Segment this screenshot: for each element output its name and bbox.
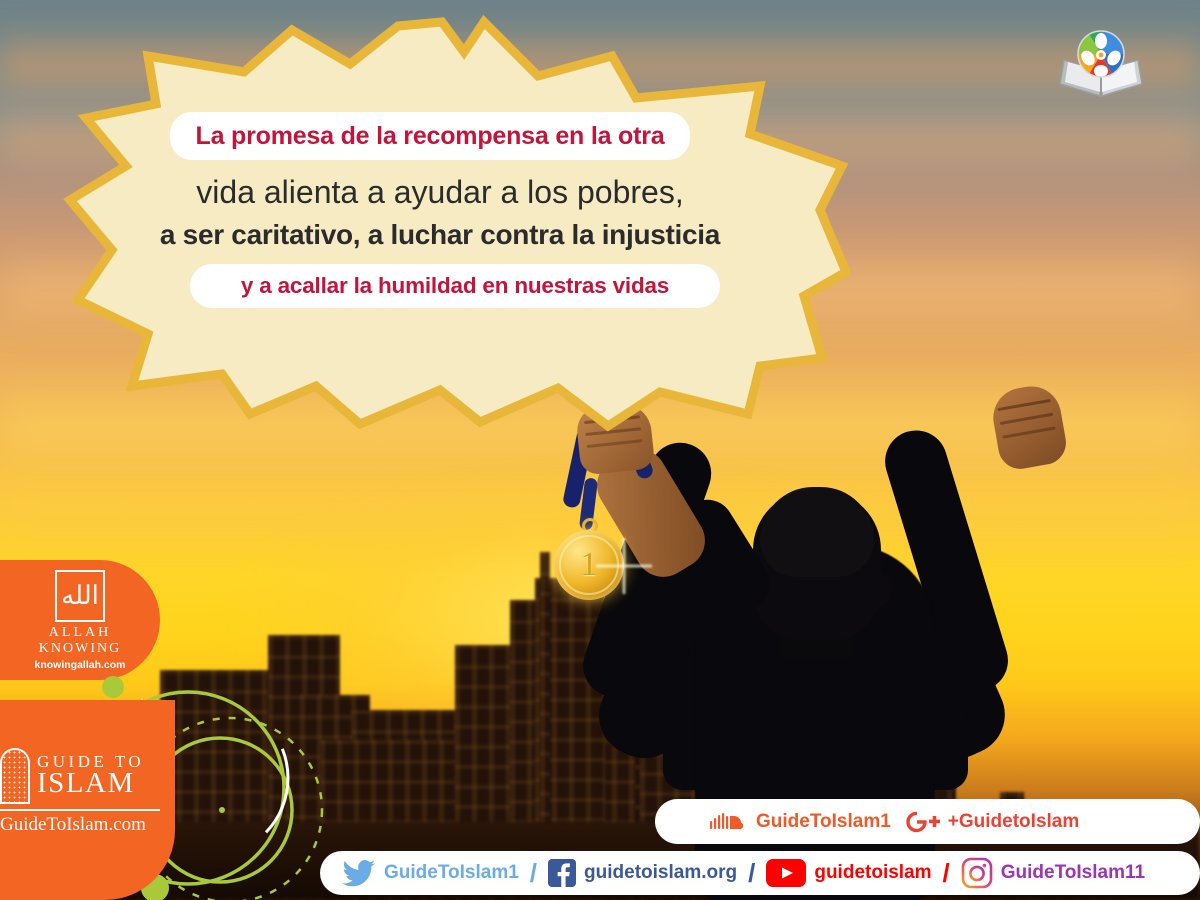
gold-medal: 1 [554, 530, 624, 600]
raised-fist-icon [989, 382, 1070, 473]
social-link-soundcloud[interactable]: GuideToIslam1 [710, 811, 891, 833]
knowing-allah-logo-panel[interactable]: الله ALLAH KNOWING knowingallah.com [0, 560, 160, 680]
googleplus-handle[interactable]: +GuidetoIslam [948, 811, 1079, 833]
quote-line-1: La promesa de la recompensa en la otra [170, 112, 690, 160]
quote-badge: La promesa de la recompensa en la otra v… [60, 14, 850, 434]
quote-line-4: y a acallar la humildad en nuestras vida… [190, 264, 720, 308]
facebook-handle[interactable]: guidetoislam.org [584, 862, 737, 884]
knowing-allah-url[interactable]: knowingallah.com [34, 659, 125, 671]
quote-line-2: vida alienta a ayudar a los pobres, [140, 174, 740, 211]
facebook-icon [548, 859, 576, 887]
googleplus-icon [904, 809, 940, 835]
instagram-handle[interactable]: GuideToIslam11 [1001, 862, 1145, 884]
social-link-twitter[interactable]: GuideToIslam1 [342, 859, 519, 887]
social-link-facebook[interactable]: guidetoislam.org [548, 859, 737, 887]
separator: / [530, 858, 537, 889]
instagram-icon [961, 857, 993, 889]
poster-canvas: 1 La p [0, 0, 1200, 900]
divider [0, 809, 160, 811]
separator: / [943, 858, 950, 889]
social-bar-top: GuideToIslam1 +GuidetoIslam [655, 799, 1200, 844]
knowing-allah-word-top: ALLAH [49, 625, 111, 641]
social-link-googleplus[interactable]: +GuidetoIslam [904, 809, 1079, 835]
globe-book-icon [1056, 26, 1146, 102]
medal-number: 1 [554, 530, 624, 600]
soundcloud-handle[interactable]: GuideToIslam1 [756, 811, 891, 833]
allah-calligraphy-icon: الله [55, 570, 105, 622]
soundcloud-icon [710, 811, 748, 833]
calligraphy-glyph: الله [61, 583, 99, 609]
separator: / [748, 858, 755, 889]
social-link-instagram[interactable]: GuideToIslam11 [961, 857, 1145, 889]
guide-to-islam-word-bottom: ISLAM [37, 770, 144, 798]
youtube-icon [766, 859, 806, 887]
youtube-handle[interactable]: guidetoislam [814, 862, 931, 884]
knowing-allah-word-bottom: KNOWING [39, 641, 121, 657]
quote-line-3: a ser caritativo, a luchar contra la inj… [120, 219, 760, 251]
social-bar-bottom: GuideToIslam1 / guidetoislam.org / guide… [320, 851, 1200, 895]
social-link-youtube[interactable]: guidetoislam [766, 859, 931, 887]
mosque-arch-icon [0, 748, 30, 804]
twitter-icon [342, 859, 376, 887]
guide-to-islam-logo-panel[interactable]: GUIDE TO ISLAM GuideToIslam.com [0, 700, 175, 900]
guide-to-islam-url[interactable]: GuideToIslam.com [0, 814, 175, 836]
twitter-handle[interactable]: GuideToIslam1 [384, 862, 519, 884]
